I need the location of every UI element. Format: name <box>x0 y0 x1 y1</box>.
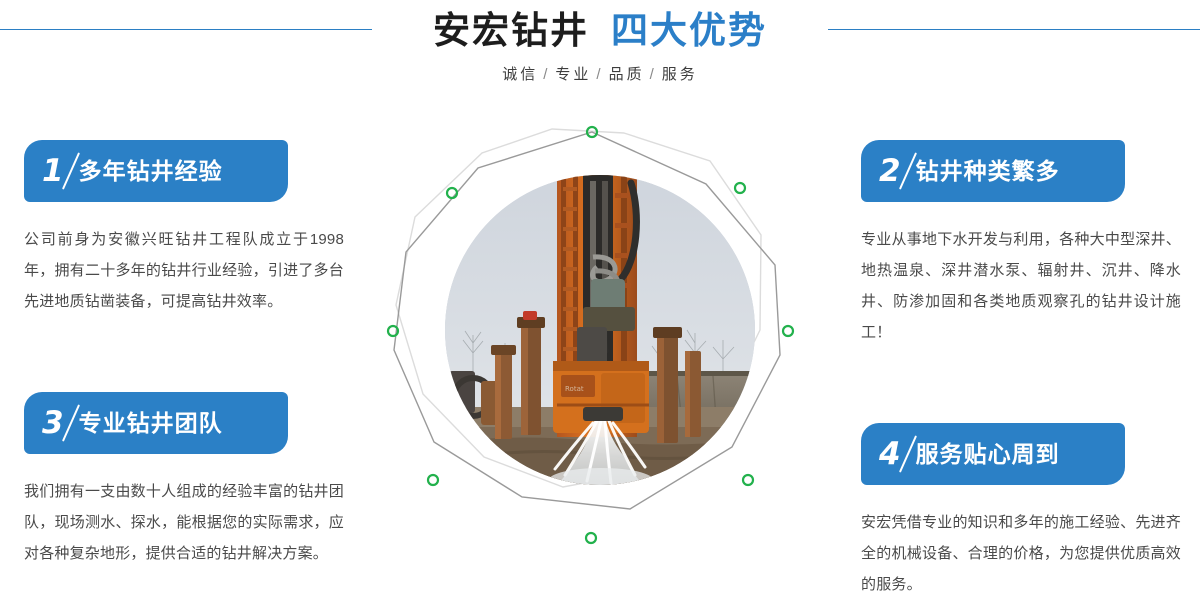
subtitle-item-3: 服务 <box>662 66 698 83</box>
polygon-node-lower-left <box>428 475 438 485</box>
subtitle-item-1: 专业 <box>555 66 591 83</box>
feature-badge-2[interactable]: 2 钻井种类繁多 <box>861 140 1125 202</box>
feature-badge-1[interactable]: 1 多年钻井经验 <box>24 140 288 202</box>
feature-column-left: 1 多年钻井经验 公司前身为安徽兴旺钻井工程队成立于1998年，拥有二十多年的钻… <box>24 140 354 569</box>
feature-number-4: 4 <box>879 439 906 470</box>
feature-number-1: 1 <box>42 156 69 187</box>
subtitle-item-0: 诚信 <box>502 66 538 83</box>
center-graphic: Rotat <box>380 105 820 555</box>
subtitle-item-2: 品质 <box>609 66 645 83</box>
page-title-accent: 四大优势 <box>611 10 767 51</box>
feature-description-1: 公司前身为安徽兴旺钻井工程队成立于1998年，拥有二十多年的钻井行业经验，引进了… <box>24 224 344 317</box>
page-title: 安宏钻井四大优势 <box>0 8 1200 54</box>
feature-title-3: 专业钻井团队 <box>79 408 223 438</box>
feature-badge-3[interactable]: 3 专业钻井团队 <box>24 392 288 454</box>
feature-card-1: 1 多年钻井经验 公司前身为安徽兴旺钻井工程队成立于1998年，拥有二十多年的钻… <box>24 140 354 317</box>
svg-text:Rotat: Rotat <box>565 385 584 393</box>
feature-title-1: 多年钻井经验 <box>79 156 223 186</box>
feature-description-3: 我们拥有一支由数十人组成的经验丰富的钻井团队，现场测水、探水，能根据您的实际需求… <box>24 476 344 569</box>
feature-badge-4[interactable]: 4 服务贴心周到 <box>861 423 1125 485</box>
subtitle-separator-2: / <box>650 66 657 83</box>
feature-number-2: 2 <box>879 156 906 187</box>
page-subtitle: 诚信/专业/品质/服务 <box>0 64 1200 86</box>
feature-column-right: 2 钻井种类繁多 专业从事地下水开发与利用，各种大中型深井、地热温泉、深井潜水泵… <box>861 140 1191 600</box>
feature-title-2: 钻井种类繁多 <box>916 156 1060 186</box>
polygon-node-right <box>783 326 793 336</box>
page-header: 安宏钻井四大优势 诚信/专业/品质/服务 <box>0 0 1200 110</box>
drilling-rig-photo: Rotat <box>445 175 755 485</box>
page-title-main: 安宏钻井 <box>433 10 589 51</box>
subtitle-separator-0: / <box>543 66 550 83</box>
feature-title-4: 服务贴心周到 <box>916 439 1060 469</box>
feature-description-2: 专业从事地下水开发与利用，各种大中型深井、地热温泉、深井潜水泵、辐射井、沉井、降… <box>861 224 1181 348</box>
polygon-node-bottom <box>586 533 596 543</box>
promo-page: 安宏钻井四大优势 诚信/专业/品质/服务 1 多年钻井经验 公司前身为安徽兴旺钻… <box>0 0 1200 600</box>
feature-number-3: 3 <box>42 408 69 439</box>
subtitle-separator-1: / <box>596 66 603 83</box>
feature-card-3: 3 专业钻井团队 我们拥有一支由数十人组成的经验丰富的钻井团队，现场测水、探水，… <box>24 392 354 569</box>
drilling-rig-illustration: Rotat <box>445 175 755 485</box>
feature-card-4: 4 服务贴心周到 安宏凭借专业的知识和多年的施工经验、先进齐全的机械设备、合理的… <box>861 423 1191 600</box>
feature-card-2: 2 钻井种类繁多 专业从事地下水开发与利用，各种大中型深井、地热温泉、深井潜水泵… <box>861 140 1191 348</box>
feature-description-4: 安宏凭借专业的知识和多年的施工经验、先进齐全的机械设备、合理的价格，为您提供优质… <box>861 507 1181 600</box>
